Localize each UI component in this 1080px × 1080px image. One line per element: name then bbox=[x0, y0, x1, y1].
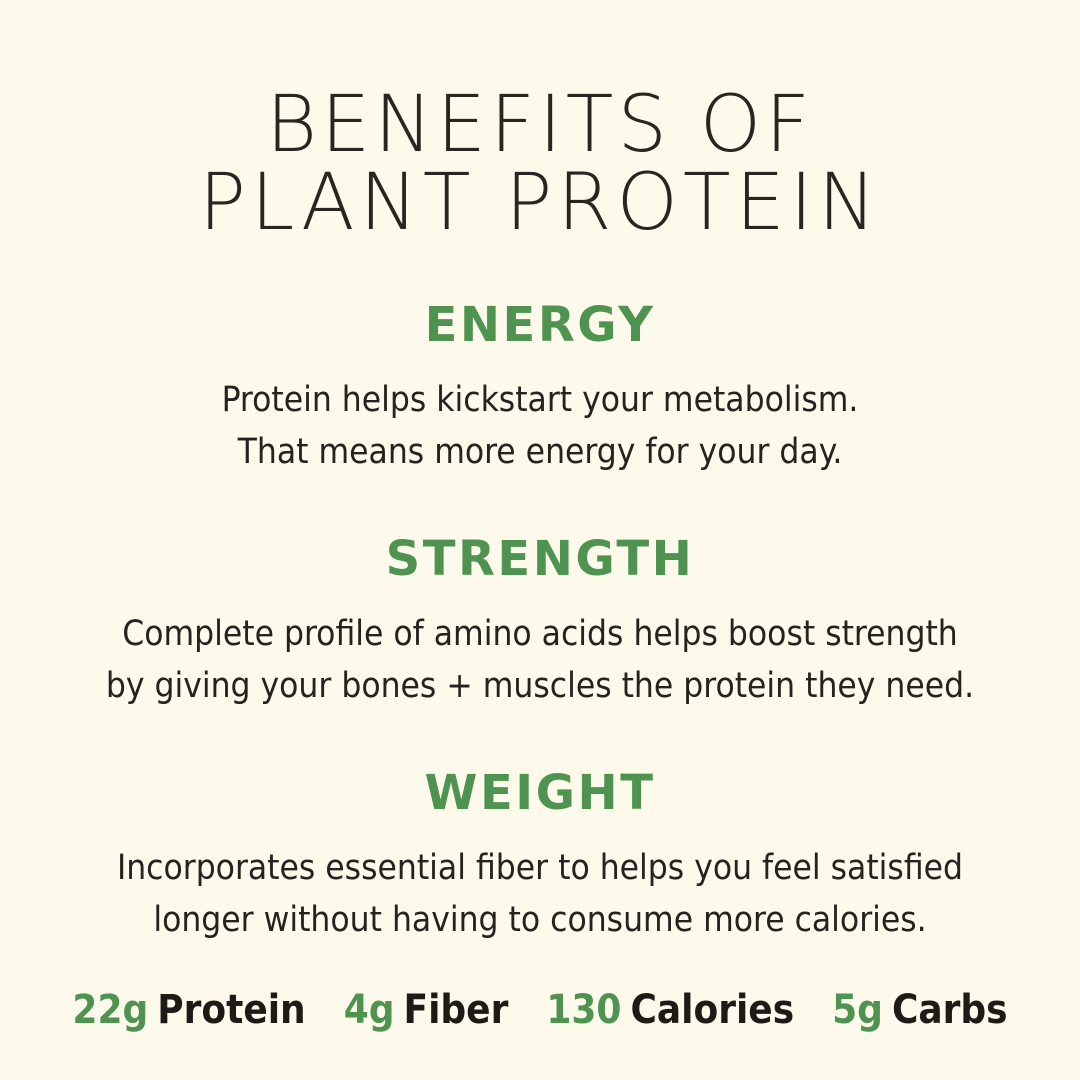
section-body-energy: Protein helps kickstart your metabolism.… bbox=[0, 374, 1080, 478]
page-title: BENEFITS OF PLANT PROTEIN bbox=[199, 86, 881, 242]
benefit-section-energy: ENERGY Protein helps kickstart your meta… bbox=[0, 300, 1080, 478]
stat-calories-label: Calories bbox=[630, 988, 794, 1032]
stat-protein: 22g Protein bbox=[72, 988, 305, 1032]
page-title-line-2: PLANT PROTEIN bbox=[199, 164, 881, 242]
section-body-weight-line-1: Incorporates essential fiber to helps yo… bbox=[0, 842, 1080, 894]
section-body-energy-line-2: That means more energy for your day. bbox=[0, 426, 1080, 478]
benefit-section-weight: WEIGHT Incorporates essential fiber to h… bbox=[0, 768, 1080, 946]
stat-carbs: 5g Carbs bbox=[832, 988, 1007, 1032]
benefit-section-strength: STRENGTH Complete profile of amino acids… bbox=[0, 534, 1080, 712]
poster-canvas: BENEFITS OF PLANT PROTEIN ENERGY Protein… bbox=[0, 0, 1080, 1080]
stat-fiber-label: Fiber bbox=[404, 988, 509, 1032]
stat-calories-value: 130 bbox=[546, 988, 621, 1032]
stat-protein-value: 22g bbox=[72, 988, 148, 1032]
section-body-strength-line-2: by giving your bones + muscles the prote… bbox=[0, 660, 1080, 712]
stat-carbs-value: 5g bbox=[832, 988, 883, 1032]
nutrition-stats-row: 22g Protein 4g Fiber 130 Calories 5g Car… bbox=[72, 988, 1007, 1032]
stat-calories: 130 Calories bbox=[546, 988, 794, 1032]
stat-fiber-value: 4g bbox=[344, 988, 395, 1032]
stat-fiber: 4g Fiber bbox=[344, 988, 509, 1032]
section-heading-energy: ENERGY bbox=[0, 300, 1080, 350]
section-body-weight-line-2: longer without having to consume more ca… bbox=[0, 894, 1080, 946]
page-title-line-1: BENEFITS OF bbox=[199, 86, 881, 164]
section-body-energy-line-1: Protein helps kickstart your metabolism. bbox=[0, 374, 1080, 426]
benefit-sections: ENERGY Protein helps kickstart your meta… bbox=[0, 300, 1080, 946]
section-body-strength: Complete profile of amino acids helps bo… bbox=[0, 608, 1080, 712]
stat-protein-label: Protein bbox=[157, 988, 305, 1032]
section-body-strength-line-1: Complete profile of amino acids helps bo… bbox=[0, 608, 1080, 660]
stat-carbs-label: Carbs bbox=[892, 988, 1008, 1032]
section-heading-weight: WEIGHT bbox=[0, 768, 1080, 818]
section-body-weight: Incorporates essential fiber to helps yo… bbox=[0, 842, 1080, 946]
section-heading-strength: STRENGTH bbox=[0, 534, 1080, 584]
